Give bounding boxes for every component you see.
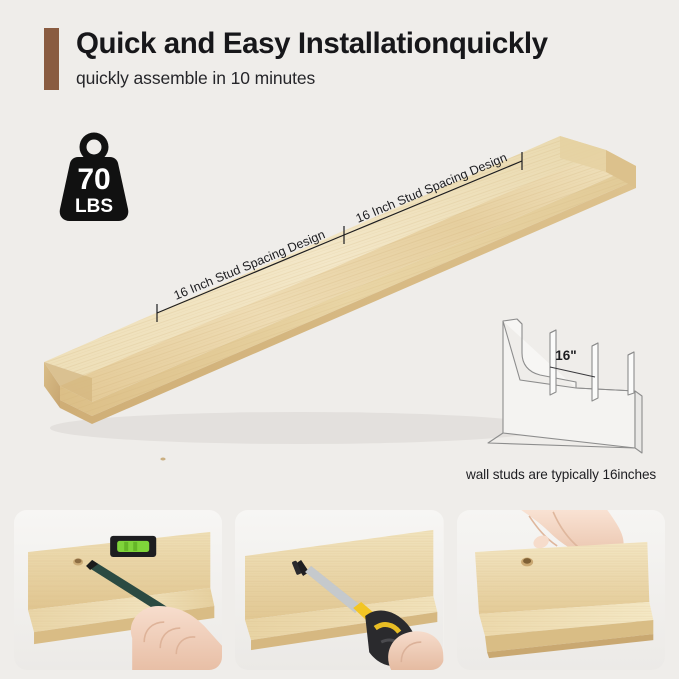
mounting-hole <box>160 458 165 461</box>
header-text: Quick and Easy Installationquickly quick… <box>76 26 548 91</box>
stud-3 <box>628 352 634 395</box>
page-subtitle: quickly assemble in 10 minutes <box>76 65 548 91</box>
stud-diagram-caption: wall studs are typically 16inches <box>466 467 679 482</box>
stud-2 <box>592 343 598 401</box>
bubble-level-icon <box>110 536 156 557</box>
accent-bar <box>44 28 59 90</box>
stud-measure-label: 16" <box>555 348 576 363</box>
panel-mounting-shelf <box>457 510 665 670</box>
infographic-page: Quick and Easy Installationquickly quick… <box>0 0 679 679</box>
page-title: Quick and Easy Installationquickly <box>76 26 548 62</box>
wall-stud-diagram: 16" <box>470 298 670 458</box>
panel-marking-with-pencil <box>14 510 222 670</box>
header: Quick and Easy Installationquickly quick… <box>44 26 548 91</box>
installation-step-panels <box>14 510 665 670</box>
panel-driving-screw <box>235 510 443 670</box>
